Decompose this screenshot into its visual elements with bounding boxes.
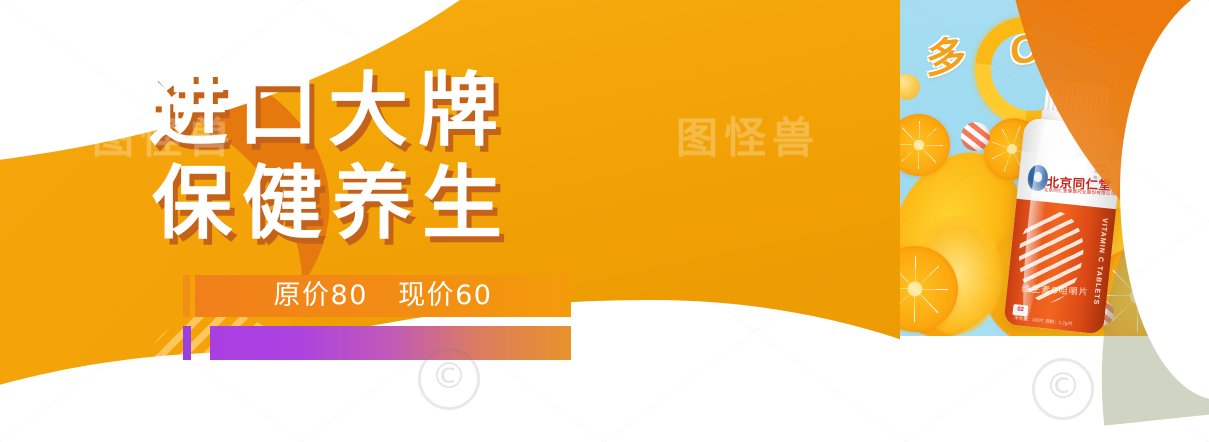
price-text: 原价80 现价60 <box>195 275 571 317</box>
price-bar: 原价80 现价60 <box>183 275 571 317</box>
bottle-product-name: 维生素C咀嚼片 <box>1021 282 1089 299</box>
gradient-bar-fill <box>210 326 571 360</box>
gradient-bar <box>183 326 571 360</box>
promo-banner: 多C多 北京同仁堂 北京同仁堂健康药业股份有限公司 净含量：100片 规格：1.… <box>0 0 1209 442</box>
bottle-spec-text: 净含量：100片 规格：1.2g/片 <box>1014 315 1074 327</box>
headline-block: 进口大牌 保健养生 <box>148 64 668 250</box>
headline-line-2: 保健养生 <box>152 157 668 250</box>
bottle-vitamin-text: VITAMIN C TABLETS <box>1092 218 1108 306</box>
striped-candy-icon <box>961 122 990 151</box>
gradient-bar-accent <box>183 326 191 360</box>
bottle-label-lower: VITAMIN C TABLETS 维生素C咀嚼片 02 净含量：100片 规格… <box>1003 199 1116 335</box>
headline-line-1: 进口大牌 <box>148 64 668 157</box>
price-bar-accent <box>183 275 190 317</box>
